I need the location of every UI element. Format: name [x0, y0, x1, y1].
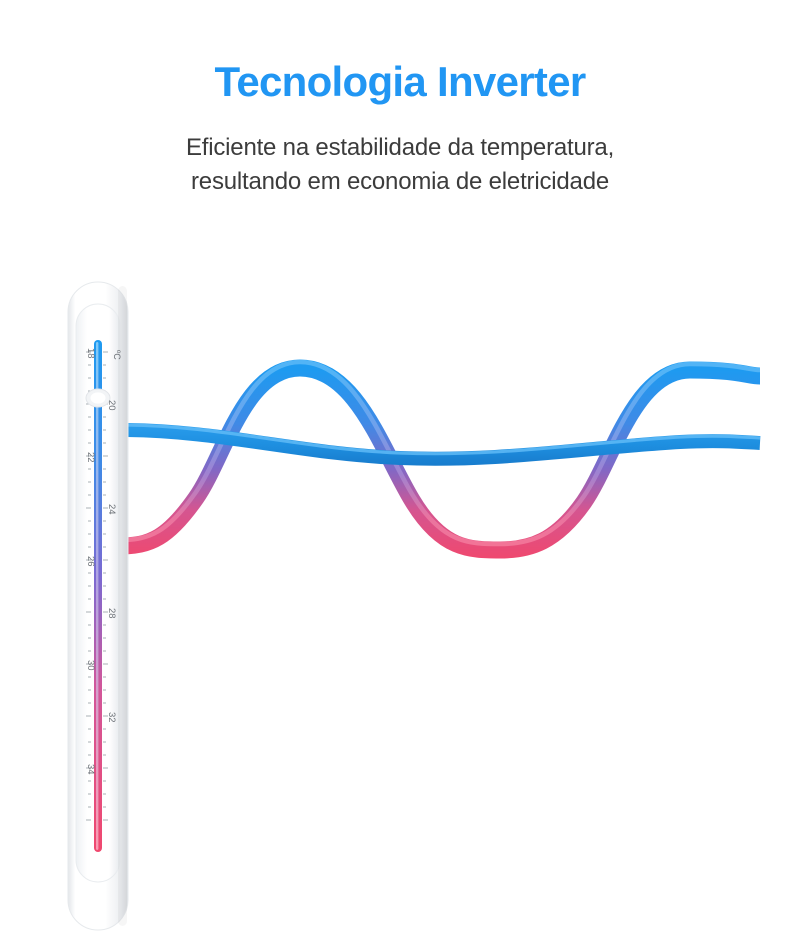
thermometer-column	[94, 340, 102, 852]
page-subtitle: Eficiente na estabilidade da temperatura…	[0, 131, 800, 199]
scale-number-22: 22	[85, 452, 96, 463]
illustration-stage: ºC 18 20 22 24 26 28 30 32 34	[0, 250, 800, 720]
header-block: Tecnologia Inverter Eficiente na estabil…	[0, 58, 800, 199]
scale-number-20: 20	[106, 400, 117, 411]
scale-number-30: 30	[85, 660, 96, 671]
inverter-technology-infographic: Tecnologia Inverter Eficiente na estabil…	[0, 0, 800, 800]
page-subtitle-line-2: resultando em economia de eletricidade	[0, 165, 800, 199]
page-title: Tecnologia Inverter	[0, 58, 800, 105]
scale-number-28: 28	[106, 608, 117, 619]
scale-number-18: 18	[85, 348, 96, 359]
scale-number-34: 34	[85, 764, 96, 775]
thermometer: ºC 18 20 22 24 26 28 30 32 34	[66, 280, 134, 932]
scale-number-26: 26	[85, 556, 96, 567]
page-subtitle-line-1: Eficiente na estabilidade da temperatura…	[0, 131, 800, 165]
scale-number-32: 32	[106, 712, 117, 723]
scale-number-24: 24	[106, 504, 117, 515]
